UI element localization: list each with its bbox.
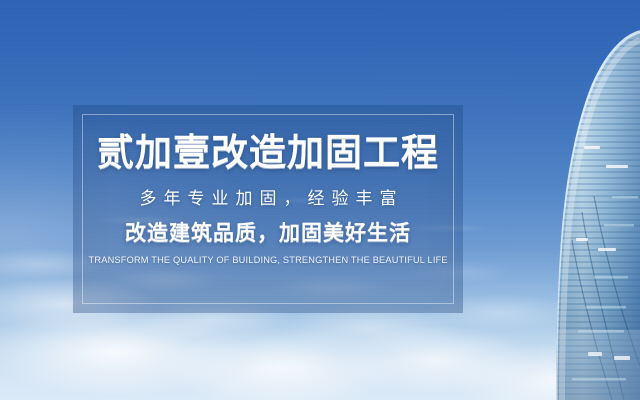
translucent-text-panel: 贰加壹改造加固工程 多年专业加固，经验丰富 改造建筑品质，加固美好生活 TRAN… <box>73 105 463 313</box>
banner-subline: 多年专业加固，经验丰富 <box>133 190 404 207</box>
banner-english-subtitle: TRANSFORM THE QUALITY OF BUILDING, STREN… <box>88 256 447 266</box>
panel-content: 贰加壹改造加固工程 多年专业加固，经验丰富 改造建筑品质，加固美好生活 TRAN… <box>73 105 463 313</box>
banner-headline: 贰加壹改造加固工程 <box>97 134 439 171</box>
hero-banner: 贰加壹改造加固工程 多年专业加固，经验丰富 改造建筑品质，加固美好生活 TRAN… <box>0 0 640 400</box>
banner-tagline: 改造建筑品质，加固美好生活 <box>125 223 411 244</box>
skyscraper-image <box>520 0 640 400</box>
